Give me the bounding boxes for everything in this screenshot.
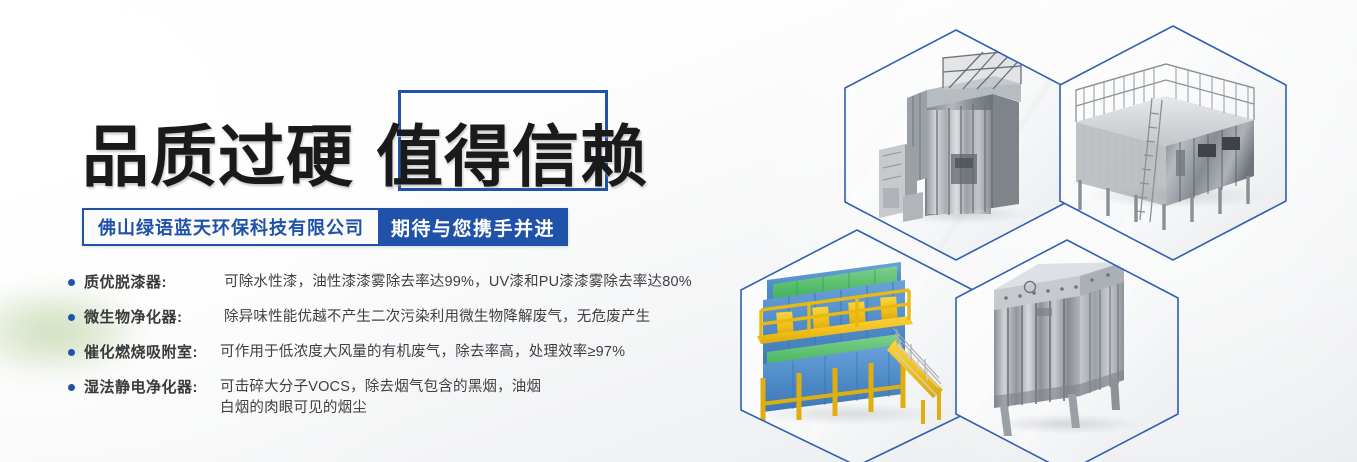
bullet-dot-icon [68,384,75,391]
feature-description: 除异味性能优越不产生二次污染利用微生物降解废气，无危废产生 [200,307,728,328]
page-title: 品质过硬值得信赖 [82,118,648,198]
feature-label: 催化燃烧吸附室: [84,342,200,363]
hex-photo-paint-stripping-tower [843,28,1069,262]
headline-part-2: 值得信赖 [376,121,648,195]
feature-list: 质优脱漆器: 可除水性漆，油性漆漆雾除去率达99%，UV漆和PU漆漆雾除去率达8… [68,272,728,433]
list-item: 微生物净化器: 除异味性能优越不产生二次污染利用微生物降解废气，无危废产生 [68,307,728,328]
feature-label: 微生物净化器: [84,307,200,328]
feature-description-line2: 白烟的肉眼可见的烟尘 [220,398,728,419]
hex-photo-catalytic-combustion-unit [737,228,977,462]
company-slogan: 期待与您携手并进 [378,208,568,246]
bullet-dot-icon [68,314,75,321]
feature-description: 可击碎大分子VOCS，除去烟气包含的黑烟，油烟 白烟的肉眼可见的烟尘 [200,377,728,419]
company-name: 佛山绿语蓝天环保科技有限公司 [84,210,378,244]
list-item: 质优脱漆器: 可除水性漆，油性漆漆雾除去率达99%，UV漆和PU漆漆雾除去率达8… [68,272,728,293]
hex-photo-biological-purifier-housing [1058,24,1288,262]
bullet-dot-icon [68,279,75,286]
list-item: 湿法静电净化器: 可击碎大分子VOCS，除去烟气包含的黑烟，油烟 白烟的肉眼可见… [68,377,728,419]
list-item: 催化燃烧吸附室: 可作用于低浓度大风量的有机废气，除去率高，处理效率≥97% [68,342,728,363]
company-slogan-bar: 佛山绿语蓝天环保科技有限公司 期待与您携手并进 [82,208,568,246]
product-banner: 品质过硬值得信赖 佛山绿语蓝天环保科技有限公司 期待与您携手并进 质优脱漆器: … [0,0,1357,462]
feature-description: 可作用于低浓度大风量的有机废气，除去率高，处理效率≥97% [200,342,728,363]
feature-description: 可除水性漆，油性漆漆雾除去率达99%，UV漆和PU漆漆雾除去率达80% [200,272,728,293]
bullet-dot-icon [68,349,75,356]
hex-photo-wet-electrostatic-purifier [952,238,1182,462]
headline-part-1: 品质过硬 [82,121,354,195]
feature-label: 湿法静电净化器: [84,377,200,398]
feature-label: 质优脱漆器: [84,272,200,293]
feature-description-line1: 可击碎大分子VOCS，除去烟气包含的黑烟，油烟 [220,379,541,395]
